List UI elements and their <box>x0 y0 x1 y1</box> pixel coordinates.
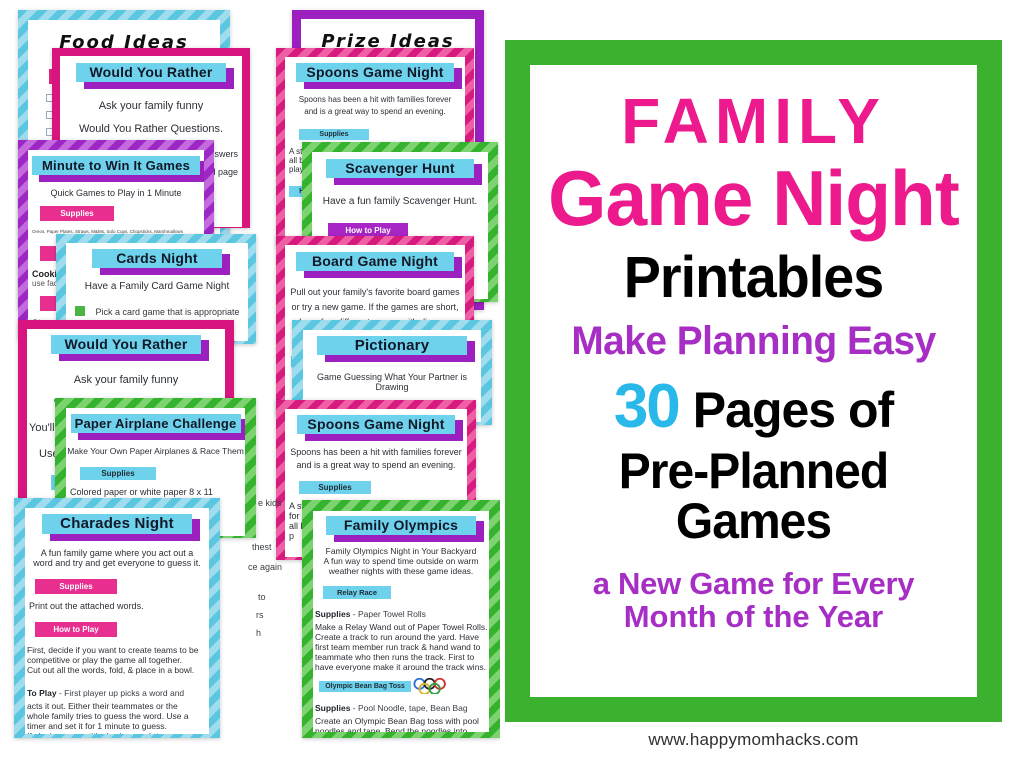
card-title-ribbon: Family Olympics <box>326 516 476 537</box>
card-title-ribbon: Would You Rather <box>76 63 226 84</box>
card-title: Board Game Night <box>296 252 454 271</box>
card-line: Have a fun family Scavenger Hunt. <box>312 196 488 207</box>
poster-title-game-night: Game Night <box>539 159 968 237</box>
website-url: www.happymomhacks.com <box>505 730 1002 750</box>
supplies-bold: Supplies <box>315 609 350 619</box>
howto-label: How to Play <box>35 622 117 637</box>
card-line: Pull out your family's favorite board ga… <box>285 287 465 297</box>
card-line: Spoons has been a hit with families fore… <box>285 95 465 104</box>
supplies-label: Supplies <box>299 129 369 140</box>
card-line: whole family tries to guess the word. Us… <box>27 711 209 721</box>
card-line: First, decide if you want to create team… <box>27 645 209 655</box>
poster-pages-line: 30 Pages of <box>530 371 977 442</box>
card-line: Spoons has been a hit with families fore… <box>285 447 467 457</box>
card-line: first team member run track & hand wand … <box>315 642 489 652</box>
card-line: Create an Olympic Bean Bag toss with poo… <box>315 716 489 726</box>
card-line: Ask your family funny <box>60 100 242 112</box>
poster-title-family: FAMILY <box>530 89 977 153</box>
card-line: Have a Family Card Game Night <box>66 281 248 292</box>
card-title-ribbon: Paper Airplane Challenge <box>71 414 241 435</box>
supplies-label: Supplies <box>299 481 371 494</box>
card-line: Would You Rather Questions. <box>60 123 242 135</box>
toplay-label: To Play <box>27 688 57 698</box>
poster-subtitle-easy: Make Planning Easy <box>537 321 971 361</box>
poster-pre-planned: Pre-Planned Games <box>539 446 968 546</box>
supplies-label: Supplies <box>80 467 156 480</box>
poster-page-count: 30 <box>614 371 679 442</box>
card-line: teammate who then runs the track. First … <box>315 652 489 662</box>
supplies-bold: Supplies <box>315 703 350 713</box>
card-title: Would You Rather <box>51 335 201 354</box>
card-title-ribbon: Minute to Win It Games <box>32 156 200 177</box>
card-line: - First player up picks a word and <box>57 688 185 698</box>
card-title: Spoons Game Night <box>296 63 454 82</box>
pin-graphic: Food Ideas Popcorn Guacamole Pizza <box>0 0 1024 768</box>
card-title-ribbon: Would You Rather <box>51 335 201 356</box>
supplies-rest: - Paper Towel Rolls <box>350 609 425 619</box>
sheet-charades-night[interactable]: Charades Night A fun family game where y… <box>14 498 220 738</box>
card-title: Pictionary <box>317 336 467 355</box>
fragment-text: thest <box>252 542 272 552</box>
card-title: Would You Rather <box>76 63 226 82</box>
card-line: If playing competitively give, each team… <box>27 731 209 734</box>
card-title: Paper Airplane Challenge <box>71 414 241 433</box>
card-title: Spoons Game Night <box>297 415 455 434</box>
card-line: and is a great way to spend an evening. <box>285 107 465 116</box>
card-title: Scavenger Hunt <box>326 159 474 178</box>
card-line: weather nights with these game ideas. <box>313 566 489 576</box>
poster-new-game-line1: a New Game for Every <box>530 568 977 599</box>
card-title-ribbon: Board Game Night <box>296 252 454 273</box>
card-title: Family Olympics <box>326 516 476 535</box>
card-line: Cut out all the words, fold, & place in … <box>27 665 209 675</box>
card-line: or try a new game. If the games are shor… <box>285 302 465 312</box>
card-subtitle: Quick Games to Play in 1 Minute <box>28 188 204 198</box>
card-line: noodles and tape. Bend the noodles into <box>315 726 489 732</box>
poster-new-game-line2: Month of the Year <box>530 601 977 632</box>
card-line: A fun family game where you act out a <box>25 548 209 558</box>
card-title: Minute to Win It Games <box>32 156 200 175</box>
fragment-text: ce again <box>248 562 282 572</box>
supplies-rest: - Pool Noodle, tape, Bean Bag <box>350 703 467 713</box>
card-title: Cards Night <box>92 249 222 268</box>
card-title: Charades Night <box>42 514 192 534</box>
card-title-ribbon: Cards Night <box>92 249 222 270</box>
card-title-ribbon: Spoons Game Night <box>296 63 454 84</box>
card-line: competitive or play the game all togethe… <box>27 655 209 665</box>
supplies-label: Supplies <box>35 579 117 594</box>
poster-panel: FAMILY Game Night Printables Make Planni… <box>505 40 1002 722</box>
card-line: and is a great way to spend an evening. <box>285 460 467 470</box>
card-line: Ask your family funny <box>27 374 225 386</box>
sheet-family-olympics[interactable]: Family Olympics Family Olympics Night in… <box>302 500 500 738</box>
fragment-text: to <box>258 592 266 602</box>
bullet-square-icon <box>75 306 85 316</box>
card-line: acts it out. Either their teammates or t… <box>27 701 209 711</box>
card-line: Print out the attached words. <box>25 601 209 611</box>
card-title-ribbon: Scavenger Hunt <box>326 159 474 180</box>
beanbag-label: Olympic Bean Bag Toss <box>319 681 411 692</box>
card-title-ribbon: Spoons Game Night <box>297 415 455 436</box>
poster-title-printables: Printables <box>539 249 968 307</box>
card-line: have everyone make it around the track w… <box>315 662 489 672</box>
fragment-text: h <box>256 628 261 638</box>
poster-inner: FAMILY Game Night Printables Make Planni… <box>530 65 977 697</box>
card-line: word and try and get everyone to guess i… <box>25 558 209 568</box>
relay-label: Relay Race <box>323 586 391 599</box>
printables-collage: Food Ideas Popcorn Guacamole Pizza <box>0 0 500 768</box>
card-title-ribbon: Charades Night <box>42 514 192 536</box>
poster-pages-of: Pages of <box>693 381 893 439</box>
fragment-text: rs <box>256 610 264 620</box>
olympic-rings-icon <box>411 678 457 694</box>
card-line: Family Olympics Night in Your Backyard <box>313 546 489 556</box>
supplies-label: Supplies <box>40 206 114 221</box>
card-title-ribbon: Pictionary <box>317 336 467 357</box>
card-line: Create a track to run around the yard. H… <box>315 632 489 642</box>
card-subtitle: Make Your Own Paper Airplanes & Race The… <box>66 446 245 456</box>
fragment-text: e kids <box>258 498 282 508</box>
card-line: A fun way to spend time outside on warm <box>313 556 489 566</box>
card-line: Colored paper or white paper 8 x 11 <box>70 487 245 497</box>
card-line: Make a Relay Wand out of Paper Towel Rol… <box>315 622 489 632</box>
card-line: timer and set it for 1 minute to guess. <box>27 721 209 731</box>
card-line: Game Guessing What Your Partner is Drawi… <box>303 372 481 392</box>
